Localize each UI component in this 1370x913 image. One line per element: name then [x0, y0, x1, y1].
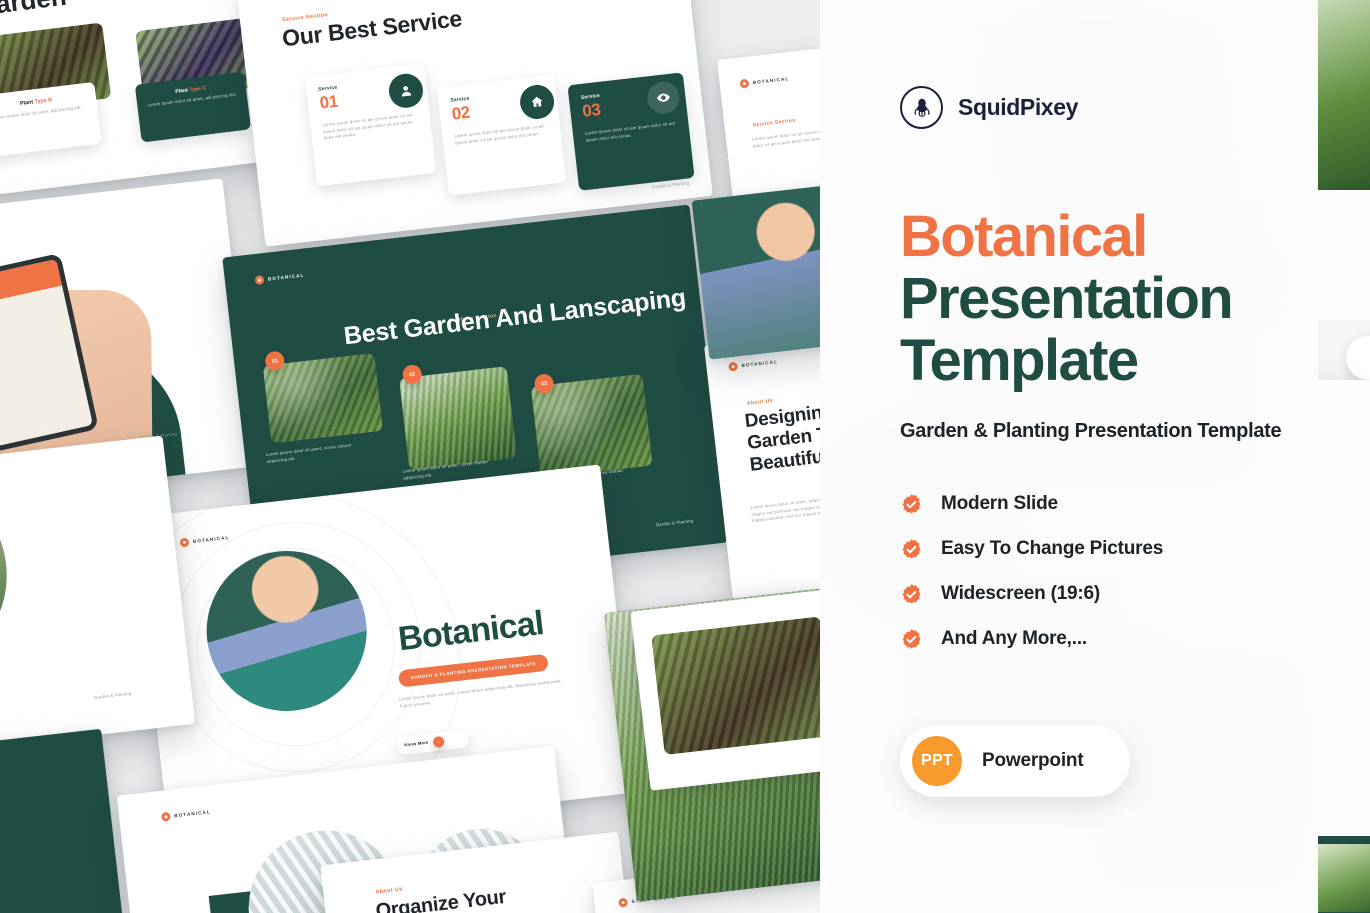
poster-stage: arden Plant Type B Lorem ipsum dolor sit… [0, 0, 1370, 913]
slide-about[interactable]: BOTANICAL About Us Designing Garden T Be… [704, 320, 820, 603]
service-card-1-body: Lorem ipsum dolor sit am ipsum dolor sit… [322, 112, 420, 142]
about-body: Lorem ipsum dolor sit amet, adipiscing e… [750, 487, 820, 524]
slide-steps[interactable]: Step Number 03 Lorem ipsum dolor sit ips… [0, 729, 127, 913]
about-section-label: About Us [747, 398, 774, 407]
feature-list: Modern Slide Easy To Change Pictures [900, 493, 1290, 651]
slide-plants-title: arden [0, 0, 68, 20]
check-seal-icon [900, 583, 923, 606]
strip-photo-1 [1318, 0, 1370, 190]
people-footer: Garden & Planting [94, 690, 132, 701]
ppt-badge-icon: PPT [912, 736, 962, 786]
feature-item-3: And Any More,... [900, 628, 1290, 651]
greenhouse-brand-icon [161, 812, 171, 822]
slide-person-greenhouse[interactable] [692, 180, 820, 359]
slide-mosaic: arden Plant Type B Lorem ipsum dolor sit… [0, 0, 820, 913]
service-heading: Our Best Service [281, 5, 463, 52]
brand-logo-row[interactable]: SquidPixey [900, 86, 1290, 129]
plant-card-2-title-a: Plant [175, 88, 188, 96]
slide-people[interactable]: Garden & Planting [0, 436, 195, 765]
feature-label-0: Modern Slide [941, 493, 1058, 515]
hero-content: SquidPixey Botanical Presentation Templa… [820, 0, 1290, 797]
title-cta-arrow-icon: › [433, 735, 445, 747]
slide-veg[interactable] [630, 589, 820, 790]
strip-white-1 [1318, 190, 1370, 340]
check-seal-icon [900, 628, 923, 651]
format-badge[interactable]: PPT Powerpoint [900, 725, 1130, 797]
squid-logo-icon [900, 86, 943, 129]
hero-title-line-2: Presentation [900, 268, 1290, 330]
quote-line-3: rself and [1318, 564, 1364, 594]
feature-item-1: Easy To Change Pictures [900, 538, 1290, 561]
feature-item-0: Modern Slide [900, 493, 1290, 516]
hero-title-line-3: Template [900, 330, 1290, 392]
service-card-2-body: Lorem ipsum dolor sit am ipsum dolor sit… [454, 123, 549, 147]
portfolio-brand-icon [255, 275, 265, 285]
hero-subtitle: Garden & Planting Presentation Template [900, 420, 1290, 443]
top-right-brand: BOTANICAL [753, 76, 790, 85]
veg-photo [651, 616, 820, 754]
about-brand-icon [728, 362, 738, 372]
portfolio-footer: Garden & Planting [655, 518, 693, 529]
plant-card-1-title-b: Type B [34, 97, 52, 105]
hero-title-line-1: Botanical [900, 207, 1290, 268]
check-seal-icon [900, 493, 923, 516]
top-right-section: Service Section [752, 118, 796, 129]
strip-quote-slide[interactable]: g plants i that is be rself and – Alexan… [1318, 380, 1370, 740]
feature-label-3: And Any More,... [941, 628, 1087, 650]
brand-name: SquidPixey [958, 94, 1078, 121]
crops-brand-icon [618, 898, 628, 908]
hero-panel: g plants i that is be rself and – Alexan… [820, 0, 1370, 913]
title-brand-icon [179, 537, 189, 547]
feature-item-2: Widescreen (19:6) [900, 583, 1290, 606]
strip-garden-slide[interactable]: r Gard [1318, 740, 1370, 913]
feature-label-2: Widescreen (19:6) [941, 583, 1100, 605]
title-cta-label: Know More [404, 739, 429, 748]
check-seal-icon [900, 538, 923, 561]
plant-card-2-title-b: Type C [189, 85, 207, 93]
format-badge-label: Powerpoint [982, 750, 1083, 772]
about-brand: BOTANICAL [741, 359, 778, 368]
right-edge-slide-strip: g plants i that is be rself and – Alexan… [1318, 0, 1370, 913]
portfolio-caption-1: Lorem ipsum dolor sit amet, conse ctetue… [266, 440, 369, 464]
portfolio-brand: BOTANICAL [268, 273, 305, 282]
portfolio-heading: Best Garden And Lanscaping [342, 284, 687, 352]
greenhouse-brand: BOTANICAL [174, 809, 211, 818]
slide-plants-card-1[interactable]: Plant Type B Lorem ipsum dolor sit amet,… [0, 82, 102, 158]
feature-label-1: Easy To Change Pictures [941, 538, 1163, 560]
organize-section-label: About Us [375, 886, 403, 895]
top-right-brand-icon [739, 79, 749, 89]
slide-plants-card-2[interactable]: Plant Type C Lorem ipsum dolor sit amet,… [135, 72, 251, 143]
service-card-3-body: Lorem ipsum dolor sit am ipsum dolor sit… [585, 120, 678, 143]
people-photo [0, 465, 17, 686]
plant-card-1-title-a: Plant [20, 99, 34, 107]
person-greenhouse-photo [692, 180, 820, 359]
